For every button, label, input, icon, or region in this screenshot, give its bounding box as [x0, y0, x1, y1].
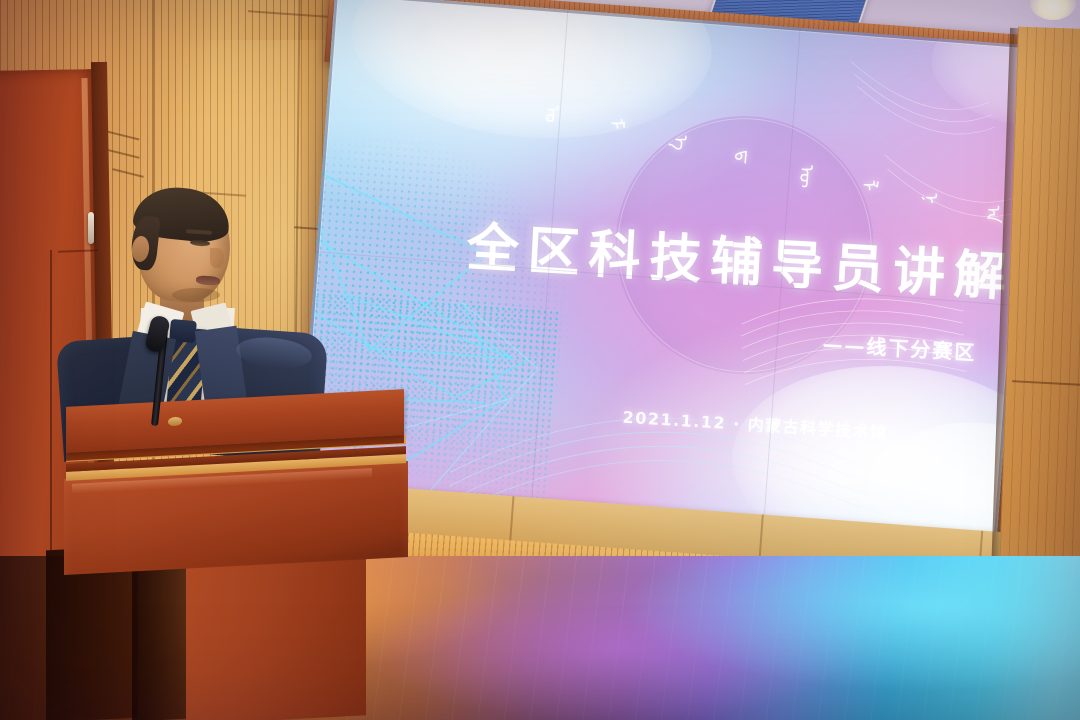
- mongolian-glyph: ᠡ: [669, 134, 689, 151]
- door-gap: [50, 250, 52, 550]
- mongolian-glyph: ᠠ: [982, 204, 1002, 223]
- mongolian-glyph: ᠮ: [606, 117, 626, 130]
- lectern-column: [186, 543, 366, 720]
- lectern-column-shadow: [132, 548, 190, 720]
- mongolian-glyph: ᠦ: [795, 164, 816, 189]
- chin-shadow: [172, 288, 220, 302]
- mongolian-glyph: ᠯ: [858, 179, 878, 192]
- conference-hall-photo: ᠤ ᠮ ᠡ ᠳ ᠦ ᠯ ᠨ ᠠ 全区科技辅导员讲解大赛 ——线下分赛区 2021…: [0, 0, 1080, 720]
- nose: [210, 248, 224, 268]
- mongolian-glyph: ᠨ: [920, 192, 940, 205]
- mongolian-glyph: ᠳ: [734, 149, 754, 165]
- wooden-lectern: [60, 398, 410, 720]
